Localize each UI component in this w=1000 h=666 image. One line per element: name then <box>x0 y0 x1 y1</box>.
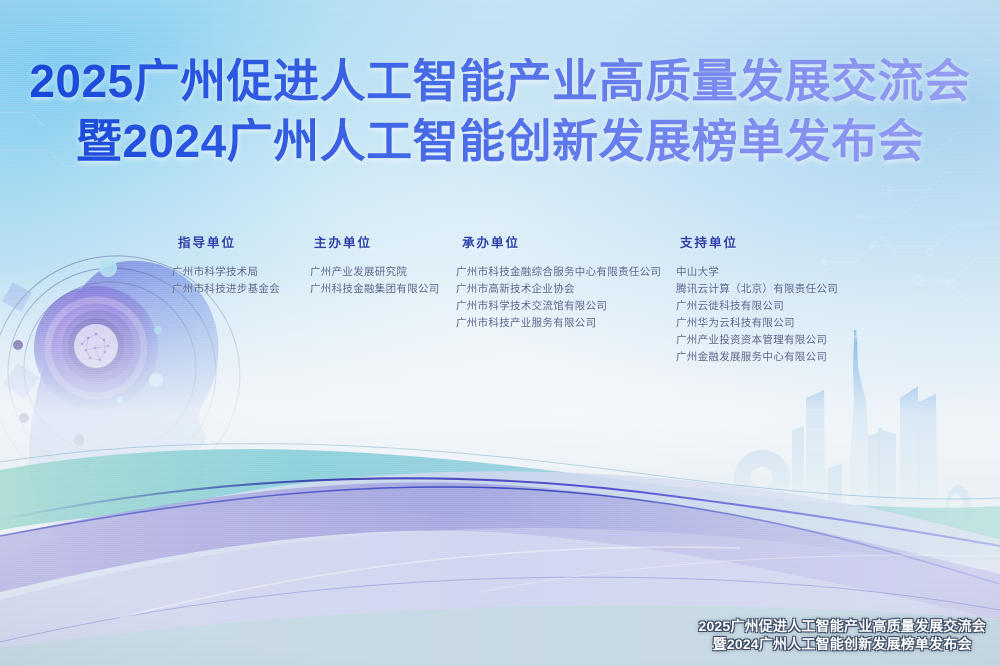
org-item: 广州云徙科技有限公司 <box>676 298 838 315</box>
org-item: 广州产业发展研究院 <box>310 264 440 281</box>
org-item: 广州市科学技术交流馆有限公司 <box>456 298 661 315</box>
org-column-supporter: 支持单位 中山大学 腾讯云计算（北京）有限责任公司 广州云徙科技有限公司 广州华… <box>676 232 838 366</box>
corner-title-line-2: 暨2024广州人工智能创新发展榜单发布会 <box>698 636 986 654</box>
org-item: 广州金融发展服务中心有限公司 <box>676 349 838 366</box>
org-item: 广州市科技进步基金会 <box>172 281 280 298</box>
org-item: 广州市科学技术局 <box>172 264 280 281</box>
event-title: 2025广州促进人工智能产业高质量发展交流会 暨2024广州人工智能创新发展榜单… <box>0 58 1000 164</box>
org-item: 广州市科技产业服务有限公司 <box>456 315 661 332</box>
event-title-line-2: 暨2024广州人工智能创新发展榜单发布会 <box>0 118 1000 164</box>
org-item: 广州市科技金融综合服务中心有限责任公司 <box>456 264 661 281</box>
org-column-guidance: 指导单位 广州市科学技术局 广州市科技进步基金会 <box>172 232 280 298</box>
org-item: 广州科技金融集团有限公司 <box>310 281 440 298</box>
corner-title-line-1: 2025广州促进人工智能产业高质量发展交流会 <box>698 618 986 636</box>
org-column-undertaker: 承办单位 广州市科技金融综合服务中心有限责任公司 广州市高新技术企业协会 广州市… <box>456 232 661 332</box>
org-item: 腾讯云计算（北京）有限责任公司 <box>676 281 838 298</box>
org-item: 广州产业投资资本管理有限公司 <box>676 332 838 349</box>
org-heading: 承办单位 <box>462 232 661 251</box>
org-heading: 支持单位 <box>680 232 838 251</box>
conference-backdrop: 2025广州促进人工智能产业高质量发展交流会 暨2024广州人工智能创新发展榜单… <box>0 0 1000 666</box>
corner-event-title: 2025广州促进人工智能产业高质量发展交流会 暨2024广州人工智能创新发展榜单… <box>698 618 986 654</box>
org-heading: 主办单位 <box>314 232 440 251</box>
org-column-organizer: 主办单位 广州产业发展研究院 广州科技金融集团有限公司 <box>310 232 440 298</box>
org-heading: 指导单位 <box>178 232 280 251</box>
org-item: 中山大学 <box>676 264 838 281</box>
org-item: 广州市高新技术企业协会 <box>456 281 661 298</box>
event-title-line-1: 2025广州促进人工智能产业高质量发展交流会 <box>0 58 1000 104</box>
org-item: 广州华为云科技有限公司 <box>676 315 838 332</box>
